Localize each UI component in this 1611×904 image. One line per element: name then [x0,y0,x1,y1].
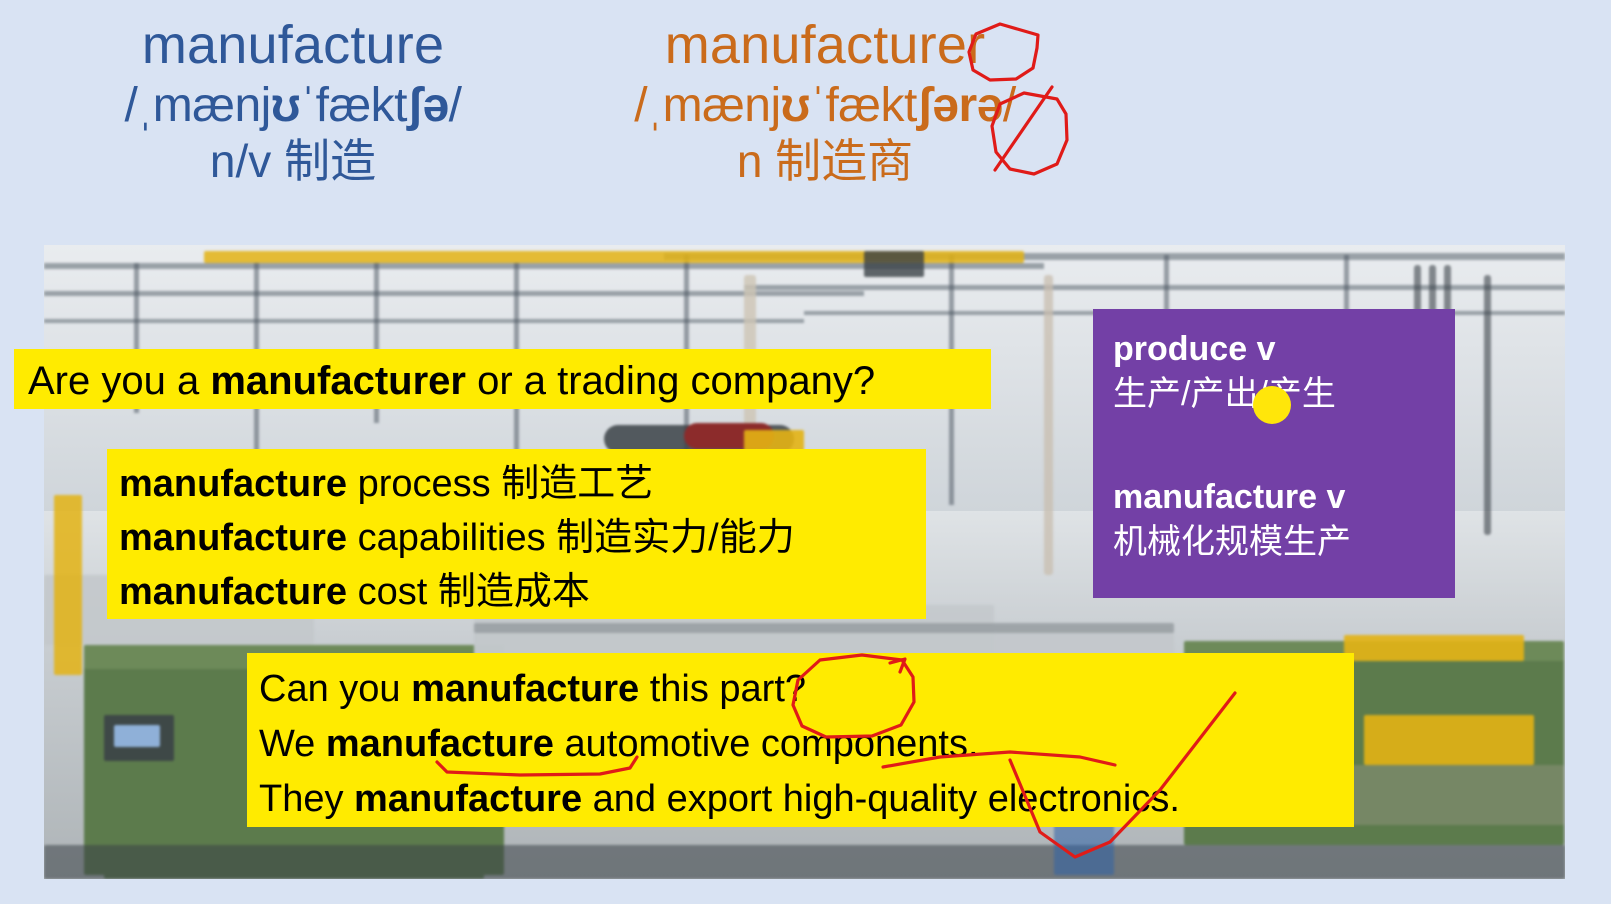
collocation-row: manufacture capabilities 制造实力/能力 [119,511,926,565]
ipa-manufacture: /ˌmænjʊˈfæktʃə/ [58,78,528,135]
collocation-keyword: manufacture [119,463,347,505]
collocation-keyword: manufacture [119,517,347,559]
ipa-part: / [1003,79,1016,132]
sentence-row: We manufacture automotive components. [259,717,1354,772]
definition-box-produce-manufacture: produce v 生产/产出/产生 manufacture v 机械化规模生产 [1093,309,1455,598]
produce-headword: produce v [1113,327,1455,371]
ipa-part: / [449,79,462,132]
collocation-rest: capabilities 制造实力/能力 [347,517,795,559]
highlight-collocations-box: manufacture process 制造工艺 manufacture cap… [107,449,926,619]
sentence-pre: Can you [259,668,411,710]
ipa-stress-vowel: ʊ [781,79,810,132]
headword-manufacture: manufacture [58,14,528,78]
sentence-keyword: manufacture [326,723,554,765]
sentence-keyword: manufacture [411,668,639,710]
sentence-post: automotive components. [554,723,979,765]
question-text-pre: Are you a [28,359,210,403]
highlight-question-banner: Are you a manufacturer or a trading comp… [14,349,991,409]
ipa-part: ˈfækt [810,79,917,132]
sentence-keyword: manufacture [354,778,582,820]
ipa-part: /ˌmænj [634,79,780,132]
question-text-post: or a trading company? [466,359,875,403]
manufacture-headword: manufacture v [1113,475,1455,519]
vocab-heading-manufacture: manufacture /ˌmænjʊˈfæktʃə/ n/v 制造 [58,14,528,189]
sentence-pre: We [259,723,326,765]
gloss-manufacturer: n 制造商 [575,134,1075,188]
slide-canvas: manufacture /ˌmænjʊˈfæktʃə/ n/v 制造 manuf… [0,0,1611,904]
ipa-ending: ʃərə [917,79,1003,132]
sentence-row: They manufacture and export high-quality… [259,772,1354,827]
question-keyword: manufacturer [210,359,466,403]
collocation-row: manufacture cost 制造成本 [119,565,926,619]
gloss-manufacture: n/v 制造 [58,134,528,188]
ipa-stress-vowel: ʊ [271,79,300,132]
highlight-sentences-box: Can you manufacture this part? We manufa… [247,653,1354,827]
box-spacer [1113,417,1455,475]
collocation-keyword: manufacture [119,571,347,613]
vocab-heading-manufacturer: manufacturer /ˌmænjʊˈfæktʃərə/ n 制造商 [575,14,1075,189]
collocation-rest: process 制造工艺 [347,463,653,505]
sentence-post: this part? [639,668,806,710]
cursor-dot [1253,386,1291,424]
sentence-post: and export high-quality electronics. [582,778,1180,820]
collocation-row: manufacture process 制造工艺 [119,457,926,511]
headword-manufacturer: manufacturer [575,14,1075,78]
ipa-ending: ʃə [407,79,449,132]
sentence-pre: They [259,778,354,820]
ipa-manufacturer: /ˌmænjʊˈfæktʃərə/ [575,78,1075,135]
collocation-rest: cost 制造成本 [347,571,590,613]
ipa-part: ˈfækt [300,79,407,132]
manufacture-gloss: 机械化规模生产 [1113,519,1455,565]
ipa-part: /ˌmænj [124,79,270,132]
sentence-row: Can you manufacture this part? [259,662,1354,717]
